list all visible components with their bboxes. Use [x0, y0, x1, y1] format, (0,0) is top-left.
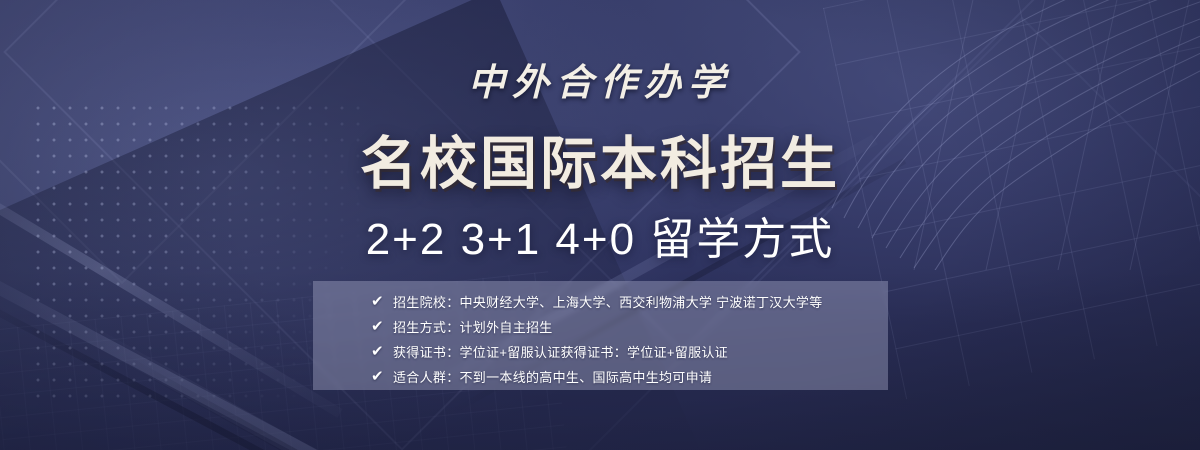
list-item: ✔ 招生院校：中央财经大学、上海大学、西交利物浦大学 宁波诺丁汉大学等	[313, 289, 888, 314]
list-item-label: 招生方式：计划外自主招生	[393, 317, 553, 336]
check-icon: ✔	[371, 294, 393, 309]
list-item-label: 招生院校：中央财经大学、上海大学、西交利物浦大学 宁波诺丁汉大学等	[393, 292, 823, 311]
info-panel: ✔ 招生院校：中央财经大学、上海大学、西交利物浦大学 宁波诺丁汉大学等 ✔ 招生…	[313, 281, 888, 390]
list-item-label: 适合人群：不到一本线的高中生、国际高中生均可申请	[393, 367, 712, 386]
check-icon: ✔	[371, 344, 393, 359]
check-icon: ✔	[371, 319, 393, 334]
banner-sub-title: 2+2 3+1 4+0 留学方式	[0, 203, 1200, 267]
banner-main-title: 名校国际本科招生	[0, 118, 1200, 200]
banner-script-title: 中外合作办学	[0, 52, 1200, 106]
list-item-label: 获得证书：学位证+留服认证获得证书：学位证+留服认证	[393, 342, 728, 361]
check-icon: ✔	[371, 369, 393, 384]
list-item: ✔ 获得证书：学位证+留服认证获得证书：学位证+留服认证	[313, 339, 888, 364]
list-item: ✔ 招生方式：计划外自主招生	[313, 314, 888, 339]
list-item: ✔ 适合人群：不到一本线的高中生、国际高中生均可申请	[313, 364, 888, 389]
promo-banner: 中外合作办学 名校国际本科招生 2+2 3+1 4+0 留学方式 ✔ 招生院校：…	[0, 0, 1200, 450]
